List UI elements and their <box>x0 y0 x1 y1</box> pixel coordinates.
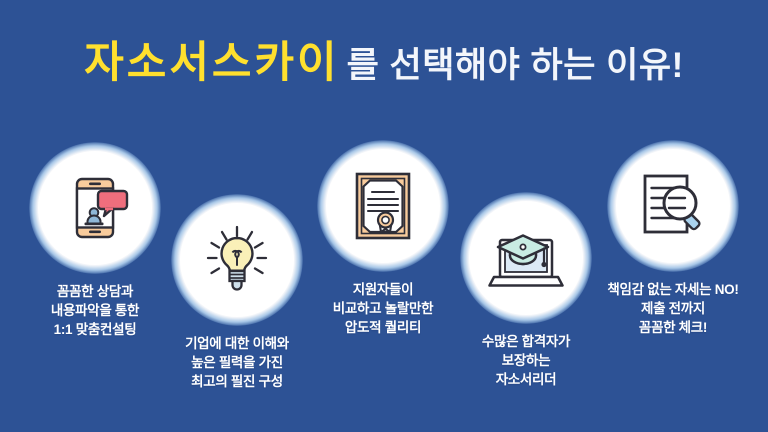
circle-white-disc <box>180 203 294 317</box>
laptop-graduation-cap-icon <box>486 222 566 294</box>
feature-caption: 수많은 합격자가 보장하는 자소서리더 <box>441 332 611 389</box>
caption-line: 보장하는 <box>441 351 611 370</box>
feature-item-success: 수많은 합격자가 보장하는 자소서리더 <box>441 192 611 389</box>
document-magnifier-check-icon <box>635 169 711 243</box>
caption-line: 자소서리더 <box>441 370 611 389</box>
circle-white-disc <box>469 201 583 315</box>
caption-line: 제출 전까지 <box>588 299 758 318</box>
circle-white-disc <box>38 151 152 265</box>
smartphone-chat-consulting-icon <box>58 171 132 245</box>
circle-white-disc <box>326 149 440 263</box>
caption-line: 기업에 대한 이해와 <box>152 334 322 353</box>
caption-line: 책임감 없는 자세는 NO! <box>588 280 758 299</box>
title-suffix: 를 선택해야 하는 이유! <box>347 46 684 85</box>
feature-icon-circle <box>29 142 161 274</box>
promo-banner: 자소서스카이를 선택해야 하는 이유! <box>0 0 768 432</box>
feature-icon-circle <box>460 192 592 324</box>
feature-icon-circle <box>317 140 449 272</box>
circle-white-disc <box>616 149 730 263</box>
lightbulb-idea-icon <box>199 222 275 298</box>
feature-item-check: 책임감 없는 자세는 NO! 제출 전까지 꼼꼼한 체크! <box>588 140 758 337</box>
caption-line: 최고의 필진 구성 <box>152 372 322 391</box>
feature-icon-circle <box>607 140 739 272</box>
feature-caption: 책임감 없는 자세는 NO! 제출 전까지 꼼꼼한 체크! <box>588 280 758 337</box>
certificate-award-icon <box>348 169 418 243</box>
caption-line: 높은 필력을 가진 <box>152 353 322 372</box>
feature-caption: 기업에 대한 이해와 높은 필력을 가진 최고의 필진 구성 <box>152 334 322 391</box>
title-brand-name: 자소서스카이 <box>84 39 339 87</box>
caption-line: 수많은 합격자가 <box>441 332 611 351</box>
caption-line: 꼼꼼한 체크! <box>588 318 758 337</box>
page-title: 자소서스카이를 선택해야 하는 이유! <box>0 42 768 85</box>
feature-item-writers: 기업에 대한 이해와 높은 필력을 가진 최고의 필진 구성 <box>152 194 322 391</box>
feature-icon-circle <box>171 194 303 326</box>
